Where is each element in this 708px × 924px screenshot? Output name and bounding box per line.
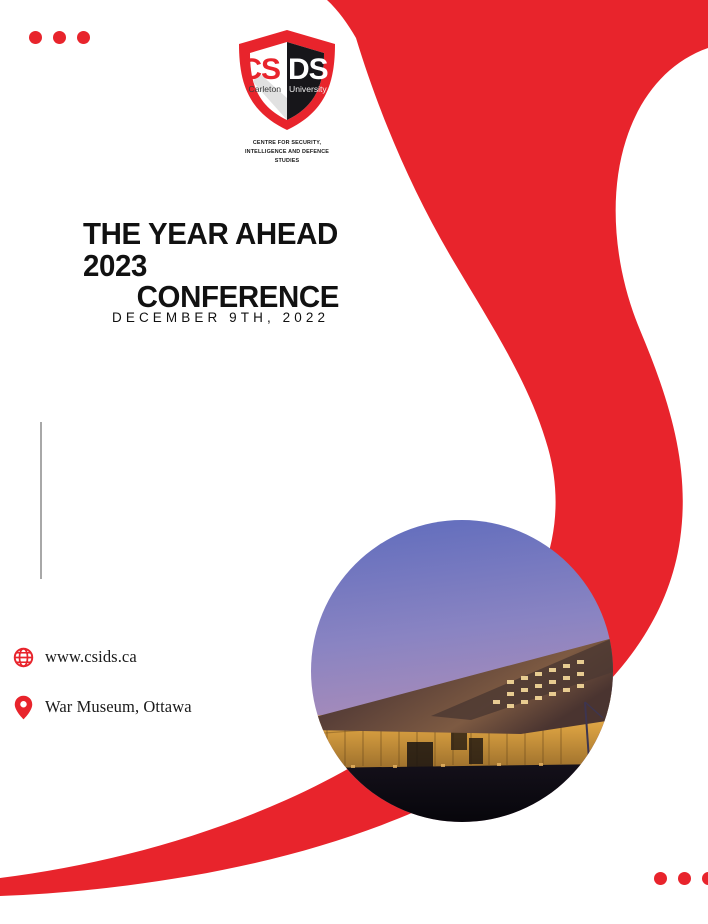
red-swoosh-background bbox=[0, 0, 708, 924]
dot bbox=[53, 31, 66, 44]
title-line-2: CONFERENCE bbox=[83, 281, 393, 313]
conference-poster: CS DS Carleton University CENTRE FOR SEC… bbox=[0, 0, 708, 924]
dot bbox=[29, 31, 42, 44]
svg-text:University: University bbox=[289, 84, 327, 94]
csids-shield-icon: CS DS Carleton University bbox=[231, 24, 343, 136]
title-line-1: THE YEAR AHEAD 2023 bbox=[83, 216, 338, 283]
contact-row-website[interactable]: www.csids.ca bbox=[12, 640, 272, 674]
decorative-dots-top-left bbox=[29, 31, 90, 44]
globe-icon bbox=[12, 645, 34, 669]
location-pin-icon bbox=[12, 695, 34, 719]
svg-text:CS: CS bbox=[240, 53, 280, 86]
venue-photo bbox=[311, 520, 613, 822]
dot bbox=[654, 872, 667, 885]
csids-logo: CS DS Carleton University CENTRE FOR SEC… bbox=[228, 24, 346, 167]
logo-subtitle: CENTRE FOR SECURITY, INTELLIGENCE AND DE… bbox=[236, 139, 338, 167]
dot bbox=[77, 31, 90, 44]
venue-name: War Museum, Ottawa bbox=[45, 697, 192, 717]
contact-block: www.csids.ca War Museum, Ottawa bbox=[12, 640, 272, 740]
svg-text:DS: DS bbox=[288, 53, 328, 86]
vertical-divider bbox=[40, 422, 42, 579]
decorative-dots-bottom-right bbox=[654, 872, 708, 885]
dot bbox=[678, 872, 691, 885]
dot bbox=[702, 872, 708, 885]
contact-row-venue[interactable]: War Museum, Ottawa bbox=[12, 690, 272, 724]
conference-date: DECEMBER 9TH, 2022 bbox=[112, 310, 329, 325]
headline-block: THE YEAR AHEAD 2023CONFERENCE bbox=[83, 218, 413, 313]
page-title: THE YEAR AHEAD 2023CONFERENCE bbox=[83, 218, 397, 313]
svg-text:Carleton: Carleton bbox=[249, 84, 282, 94]
website-url: www.csids.ca bbox=[45, 647, 137, 667]
